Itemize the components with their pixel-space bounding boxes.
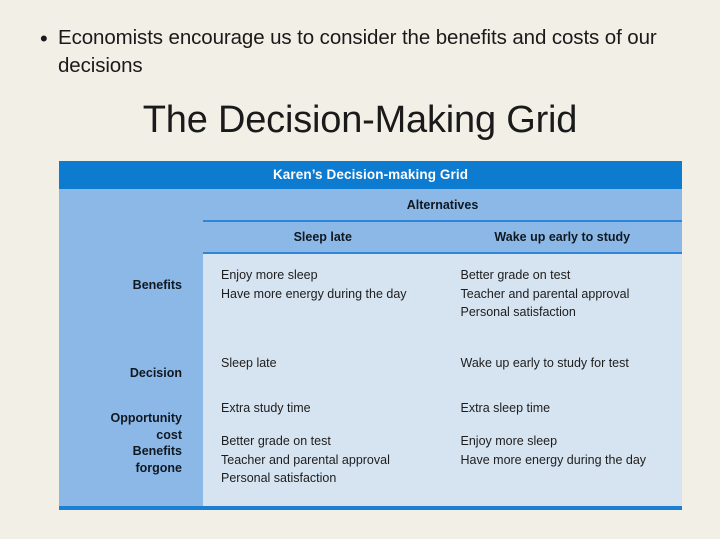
cell-benefits-forgone-wake-up-early: Enjoy more sleep Have more energy during… [443,432,683,488]
cell-benefits-sleep-late: Enjoy more sleep Have more energy during… [221,266,443,354]
grid-body: Benefits Decision Opportunity cost Benef… [59,189,682,506]
decision-making-grid: Karen’s Decision-making Grid Benefits De… [59,161,682,510]
row-label-column: Benefits Decision Opportunity cost Benef… [59,189,203,506]
bullet-marker-icon: • [40,24,58,54]
table-row: Extra study time Extra sleep time [221,399,682,432]
label-column-header-spacer [59,189,203,265]
column-header-wake-up-early: Wake up early to study [443,230,683,244]
table-row: Sleep late Wake up early to study for te… [221,354,682,399]
cell-decision-sleep-late: Sleep late [221,354,443,399]
cell-benefits-forgone-sleep-late: Better grade on test Teacher and parenta… [221,432,443,488]
table-row: Better grade on test Teacher and parenta… [221,432,682,506]
cell-opportunity-cost-wake-up-early: Extra sleep time [443,399,683,432]
row-label-benefits: Benefits [59,265,203,365]
row-label-opportunity-cost: Opportunity cost [59,410,203,443]
grid-rows: Enjoy more sleep Have more energy during… [203,254,682,506]
cell-benefits-wake-up-early: Better grade on test Teacher and parenta… [443,266,683,354]
alternatives-header: Alternatives [203,189,682,220]
cell-opportunity-cost-sleep-late: Extra study time [221,399,443,432]
bullet-text: Economists encourage us to consider the … [58,24,680,80]
cell-decision-wake-up-early: Wake up early to study for test [443,354,683,399]
bullet-paragraph: • Economists encourage us to consider th… [40,24,680,80]
table-row: Enjoy more sleep Have more energy during… [221,254,682,354]
column-header-sleep-late: Sleep late [203,230,443,244]
row-label-decision: Decision [59,365,203,410]
page-title: The Decision-Making Grid [0,97,720,143]
row-label-benefits-forgone: Benefits forgone [59,443,203,476]
grid-title-bar: Karen’s Decision-making Grid [59,161,682,189]
alternative-column-headers: Sleep late Wake up early to study [203,222,682,252]
grid-data-column: Alternatives Sleep late Wake up early to… [203,189,682,506]
